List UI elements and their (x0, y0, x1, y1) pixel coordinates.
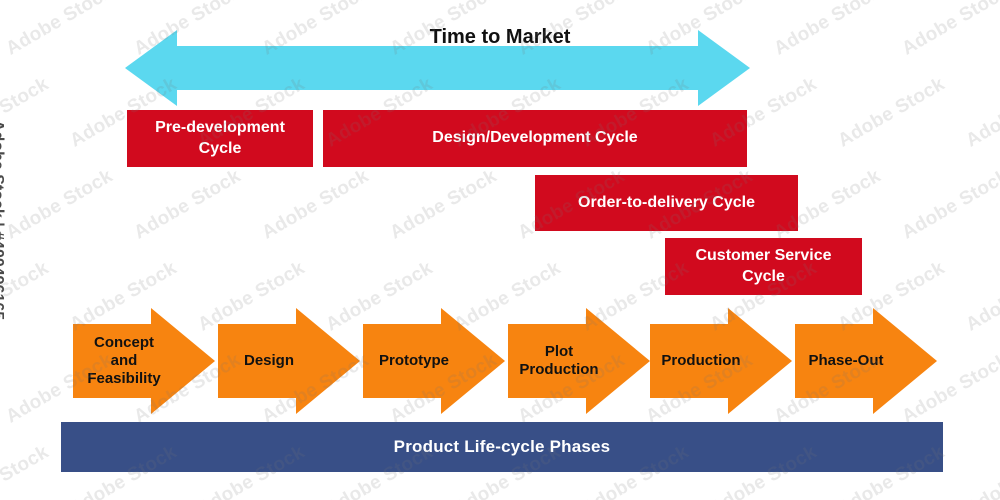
phase-arrow-concept-and-feasibility: Concept and Feasibility (73, 308, 215, 414)
product-lifecycle-phases-bar: Product Life-cycle Phases (61, 422, 943, 472)
cycle-box-customer-service: Customer Service Cycle (665, 238, 862, 295)
watermark-tile: Adobe Stock (963, 258, 1000, 337)
watermark-tile: Adobe Stock (835, 74, 949, 153)
time-to-market-label: Time to Market (0, 26, 1000, 49)
cycle-box-design-development: Design/Development Cycle (323, 110, 747, 167)
watermark-tile: Adobe Stock (3, 166, 117, 245)
phase-arrow-label: Concept and Feasibility (73, 308, 169, 414)
watermark-tile: Adobe Stock (899, 166, 1000, 245)
cycle-box-label: Order-to-delivery Cycle (578, 193, 755, 213)
cycle-box-label: Design/Development Cycle (432, 128, 637, 148)
stock-id-watermark: Adobe Stock | #400496165 (0, 120, 6, 500)
phase-arrow-plot-production: Plot Production (508, 308, 650, 414)
watermark-tile: Adobe Stock (0, 74, 53, 153)
phase-arrow-label: Production (650, 308, 746, 414)
watermark-tile: Adobe Stock (131, 166, 245, 245)
phase-arrow-phase-out: Phase-Out (795, 308, 937, 414)
phase-arrow-label: Phase-Out (795, 308, 891, 414)
phase-arrow-label: Plot Production (508, 308, 604, 414)
watermark-tile: Adobe Stock (259, 166, 373, 245)
phase-arrow-label: Design (218, 308, 314, 414)
phase-arrow-design: Design (218, 308, 360, 414)
watermark-tile: Adobe Stock (387, 166, 501, 245)
watermark-tile: Adobe Stock (0, 442, 53, 500)
cycle-box-label: Customer Service Cycle (675, 246, 852, 287)
cycle-box-label: Pre-development Cycle (137, 118, 303, 159)
watermark-tile: Adobe Stock (963, 442, 1000, 500)
phase-arrow-label: Prototype (363, 308, 459, 414)
cycle-box-order-to-delivery: Order-to-delivery Cycle (535, 175, 798, 231)
cycle-box-pre-development: Pre-development Cycle (127, 110, 313, 167)
diagram-canvas: Adobe StockAdobe StockAdobe StockAdobe S… (0, 0, 1000, 500)
phase-arrow-prototype: Prototype (363, 308, 505, 414)
watermark-tile: Adobe Stock (963, 74, 1000, 153)
phase-arrow-production: Production (650, 308, 792, 414)
watermark-tile: Adobe Stock (0, 258, 53, 337)
product-lifecycle-phases-label: Product Life-cycle Phases (394, 437, 611, 457)
